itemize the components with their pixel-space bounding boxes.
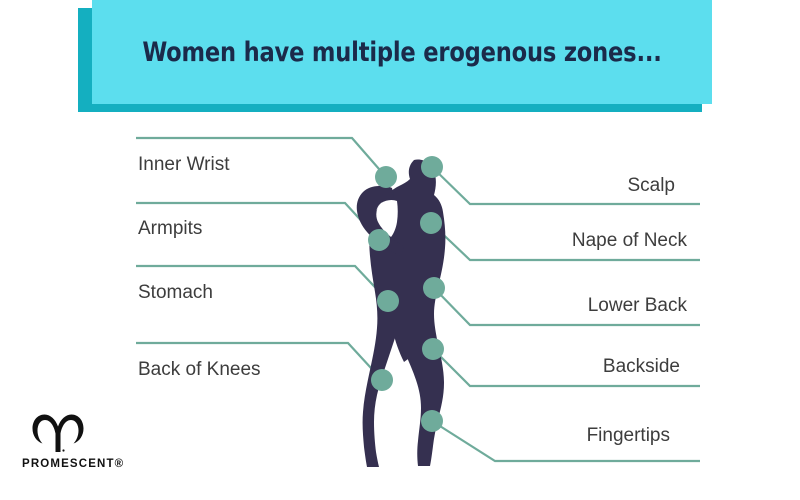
zone-dot-lower-back[interactable] (423, 277, 445, 299)
zone-label-lower-back: Lower Back (588, 296, 687, 315)
zone-label-inner-wrist: Inner Wrist (138, 155, 230, 174)
zone-dot-scalp[interactable] (421, 156, 443, 178)
zone-dot-armpits[interactable] (368, 229, 390, 251)
promescent-logo: PROMESCENT® (22, 412, 132, 478)
promescent-wordmark: PROMESCENT® (22, 458, 124, 470)
zone-dot-backside[interactable] (422, 338, 444, 360)
zone-label-stomach: Stomach (138, 283, 213, 302)
zone-label-armpits: Armpits (138, 219, 202, 238)
zone-label-backside: Backside (603, 357, 680, 376)
zone-label-nape-of-neck: Nape of Neck (572, 231, 687, 250)
zone-dot-inner-wrist[interactable] (375, 166, 397, 188)
zone-label-scalp: Scalp (627, 176, 675, 195)
zone-dot-stomach[interactable] (377, 290, 399, 312)
zone-label-fingertips: Fingertips (587, 426, 670, 445)
infographic-root: Women have multiple erogenous zones... I… (0, 0, 800, 500)
aries-ram-icon (30, 412, 86, 454)
zone-dot-fingertips[interactable] (421, 410, 443, 432)
zone-label-back-of-knees: Back of Knees (138, 360, 261, 379)
zone-dot-back-of-knees[interactable] (371, 369, 393, 391)
zone-dot-nape-of-neck[interactable] (420, 212, 442, 234)
